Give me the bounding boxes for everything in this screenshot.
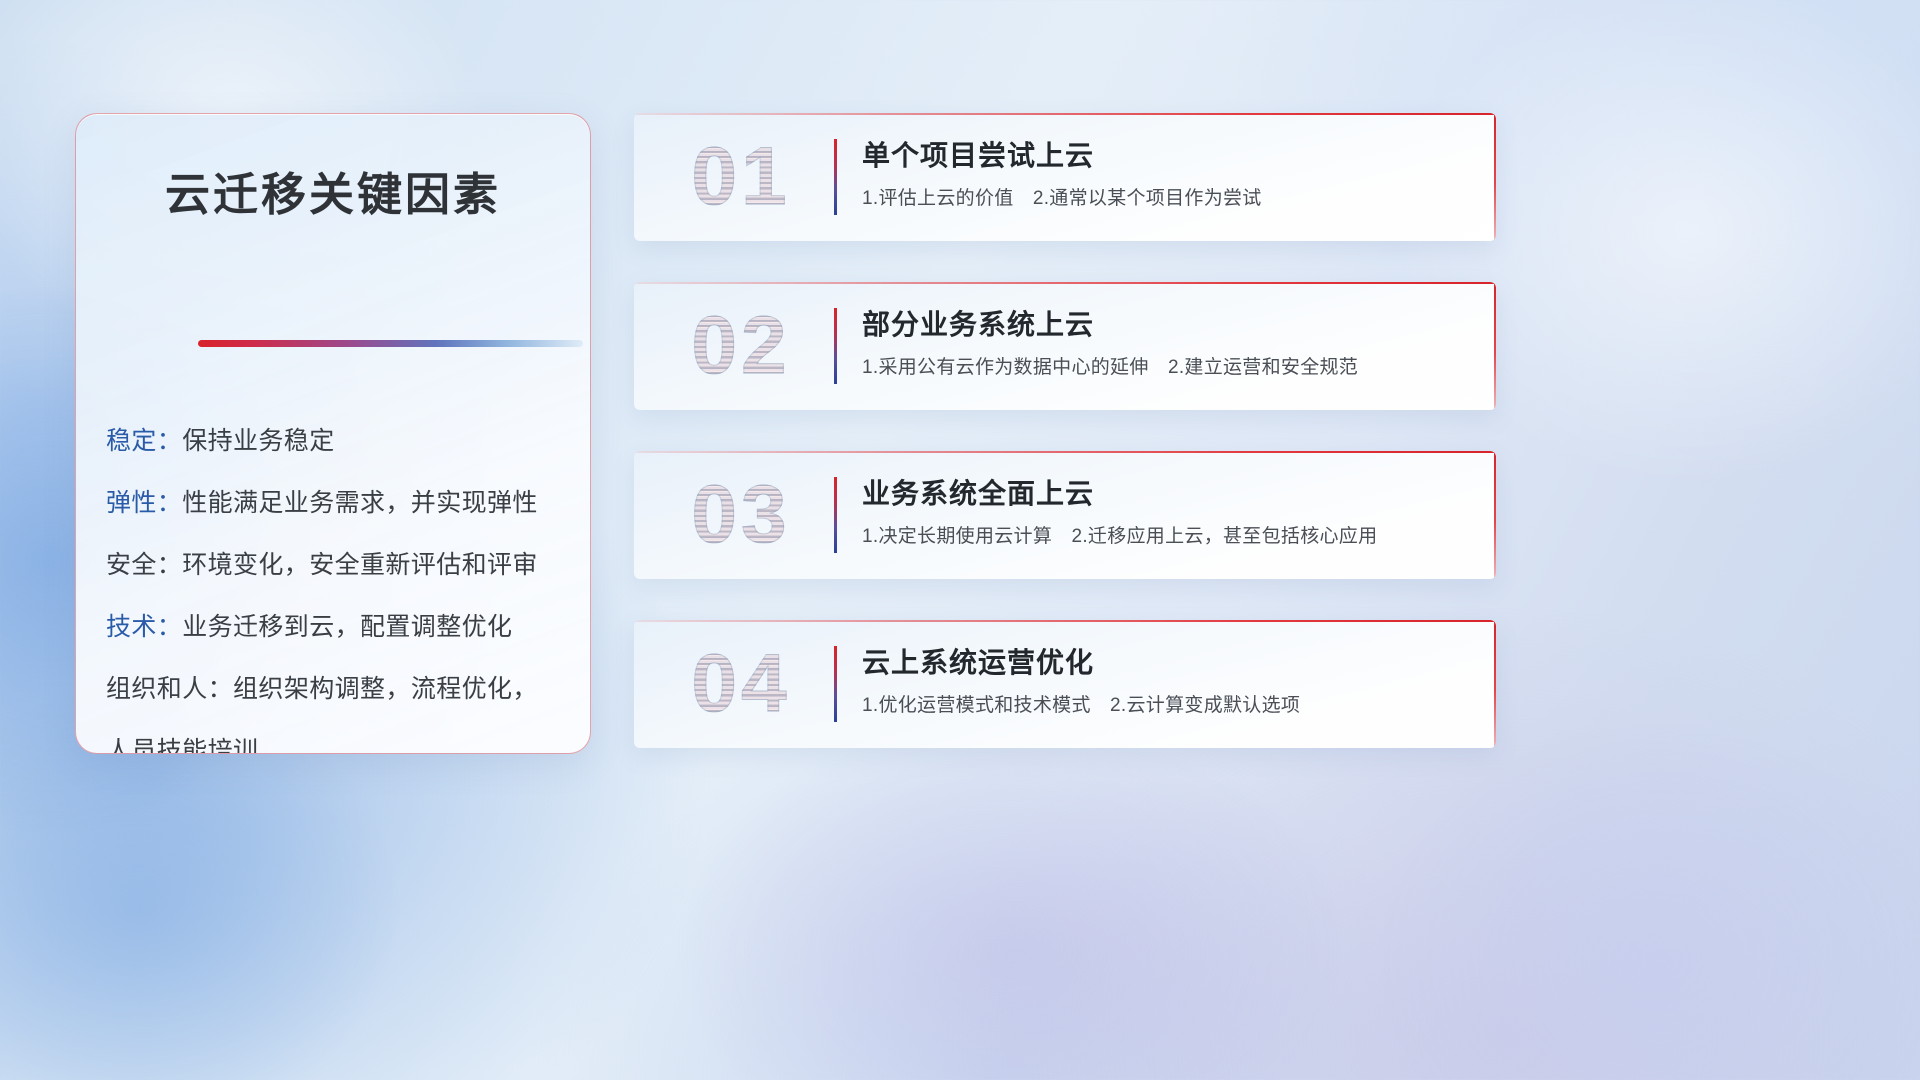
migration-stage-card-list: 01单个项目尝试上云1.评估上云的价值 2.通常以某个项目作为尝试02部分业务系… xyxy=(634,113,1496,789)
key-factor-label: 弹性： xyxy=(106,489,182,517)
stage-text-block: 业务系统全面上云1.决定长期使用云计算 2.迁移应用上云，甚至包括核心应用 xyxy=(862,473,1470,551)
migration-stage-card[interactable]: 03业务系统全面上云1.决定长期使用云计算 2.迁移应用上云，甚至包括核心应用 xyxy=(634,451,1496,579)
stage-number: 04 xyxy=(656,634,826,734)
stage-number: 03 xyxy=(656,465,826,565)
stage-title: 云上系统运营优化 xyxy=(862,642,1470,684)
key-factor-text: 性能满足业务需求，并实现弹性 xyxy=(182,489,538,517)
key-factor-line: 人员技能培训 xyxy=(106,720,572,754)
stage-subtitle: 1.优化运营模式和技术模式 2.云计算变成默认选项 xyxy=(862,692,1470,720)
key-factor-text: 环境变化，安全重新评估和评审 xyxy=(182,551,538,579)
stage-title: 业务系统全面上云 xyxy=(862,473,1470,515)
key-factor-text: 人员技能培训 xyxy=(106,737,258,754)
stage-subtitle: 1.评估上云的价值 2.通常以某个项目作为尝试 xyxy=(862,185,1470,213)
key-factor-text: 组织架构调整，流程优化， xyxy=(233,675,538,703)
stage-number: 01 xyxy=(656,127,826,227)
migration-stage-card[interactable]: 01单个项目尝试上云1.评估上云的价值 2.通常以某个项目作为尝试 xyxy=(634,113,1496,241)
key-factor-label: 稳定： xyxy=(106,427,182,455)
stage-text-block: 部分业务系统上云1.采用公有云作为数据中心的延伸 2.建立运营和安全规范 xyxy=(862,304,1470,382)
key-factor-label: 技术： xyxy=(106,613,182,641)
key-factors-panel: 云迁移关键因素 稳定：保持业务稳定弹性：性能满足业务需求，并实现弹性安全：环境变… xyxy=(75,113,591,754)
stage-title: 部分业务系统上云 xyxy=(862,304,1470,346)
stage-subtitle: 1.决定长期使用云计算 2.迁移应用上云，甚至包括核心应用 xyxy=(862,523,1470,551)
stage-title: 单个项目尝试上云 xyxy=(862,135,1470,177)
stage-text-block: 云上系统运营优化1.优化运营模式和技术模式 2.云计算变成默认选项 xyxy=(862,642,1470,720)
stage-divider-bar xyxy=(834,308,837,384)
key-factor-line: 组织和人：组织架构调整，流程优化， xyxy=(106,658,572,720)
migration-stage-card[interactable]: 02部分业务系统上云1.采用公有云作为数据中心的延伸 2.建立运营和安全规范 xyxy=(634,282,1496,410)
key-factor-label: 安全： xyxy=(106,551,182,579)
page-title: 云迁移关键因素 xyxy=(76,158,590,223)
title-underline-rule xyxy=(198,340,583,347)
key-factor-line: 弹性：性能满足业务需求，并实现弹性 xyxy=(106,472,572,534)
stage-divider-bar xyxy=(834,646,837,722)
key-factors-list: 稳定：保持业务稳定弹性：性能满足业务需求，并实现弹性安全：环境变化，安全重新评估… xyxy=(106,410,572,754)
key-factor-text: 保持业务稳定 xyxy=(182,427,334,455)
stage-text-block: 单个项目尝试上云1.评估上云的价值 2.通常以某个项目作为尝试 xyxy=(862,135,1470,213)
stage-divider-bar xyxy=(834,139,837,215)
migration-stage-card[interactable]: 04云上系统运营优化1.优化运营模式和技术模式 2.云计算变成默认选项 xyxy=(634,620,1496,748)
key-factor-line: 稳定：保持业务稳定 xyxy=(106,410,572,472)
stage-subtitle: 1.采用公有云作为数据中心的延伸 2.建立运营和安全规范 xyxy=(862,354,1470,382)
stage-number: 02 xyxy=(656,296,826,396)
key-factor-line: 技术：业务迁移到云，配置调整优化 xyxy=(106,596,572,658)
key-factor-line: 安全：环境变化，安全重新评估和评审 xyxy=(106,534,572,596)
stage-divider-bar xyxy=(834,477,837,553)
key-factor-text: 业务迁移到云，配置调整优化 xyxy=(182,613,512,641)
key-factor-label: 组织和人： xyxy=(106,675,233,703)
